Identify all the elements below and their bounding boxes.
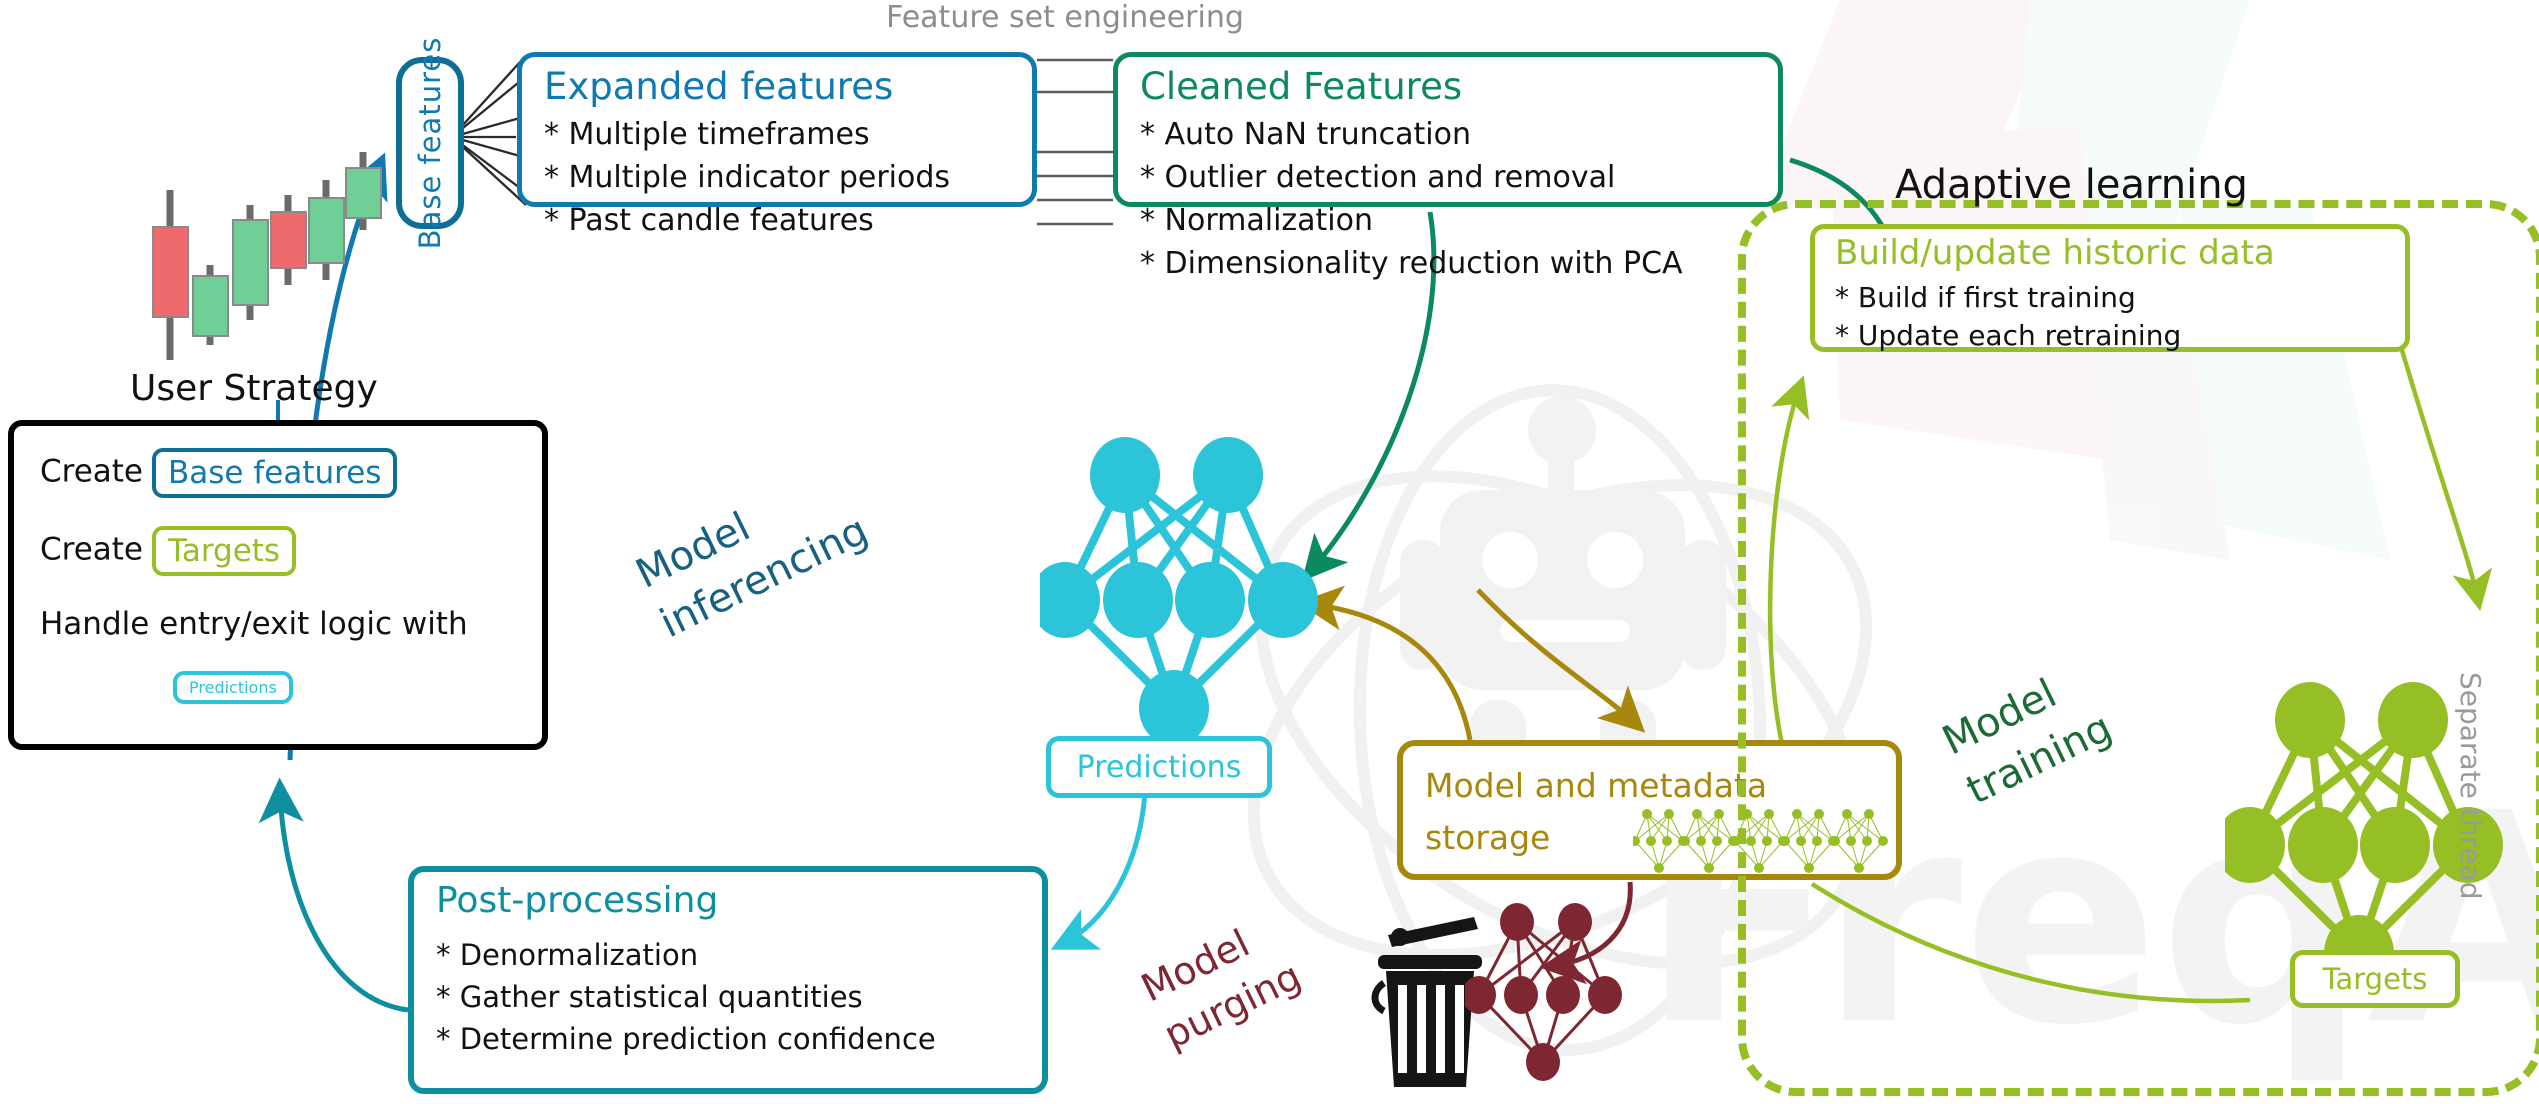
predictions-inline-wrap: Predictions (164, 671, 293, 704)
entry-exit-logic-label: Handle entry/exit logic with (40, 606, 468, 642)
expanded-features-box[interactable]: Expanded features * Multiple timeframes … (517, 52, 1037, 207)
list-item: * Update each retraining (1835, 317, 2181, 355)
base-features-inline-pill[interactable]: Base features (152, 448, 397, 498)
list-item: * Normalization (1140, 199, 1683, 242)
candlestick-chart (140, 80, 390, 380)
list-item: * Multiple indicator periods (544, 156, 950, 199)
list-item: * Outlier detection and removal (1140, 156, 1683, 199)
list-item: * Auto NaN truncation (1140, 113, 1683, 156)
build-update-historic-data-box[interactable]: Build/update historic data * Build if fi… (1810, 224, 2410, 352)
targets-inline-pill[interactable]: Targets (152, 526, 296, 576)
inference-neural-network-icon (1040, 420, 1340, 740)
post-processing-box[interactable]: Post-processing * Denormalization * Gath… (408, 866, 1048, 1094)
targets-pill-right[interactable]: Targets (2290, 950, 2460, 1008)
expanded-features-bullets: * Multiple timeframes * Multiple indicat… (544, 113, 950, 242)
base-features-pill[interactable]: Base features (396, 57, 464, 229)
historic-data-title: Build/update historic data (1835, 233, 2275, 273)
separate-thread-label: Separate thread (2454, 672, 2487, 900)
predictions-inline-pill[interactable]: Predictions (173, 671, 293, 704)
post-processing-title: Post-processing (436, 880, 718, 921)
purged-model-network-icon (1465, 900, 1640, 1090)
storage-title-line1: Model and metadata (1425, 760, 1767, 812)
user-strategy-row-2: CreateTargets (40, 526, 296, 576)
adaptive-learning-title: Adaptive learning (1895, 162, 2248, 208)
create-label-2: Create (40, 532, 143, 568)
user-strategy-box[interactable]: CreateBase features CreateTargets Handle… (8, 420, 548, 750)
list-item: * Determine prediction confidence (436, 1018, 936, 1060)
create-label-1: Create (40, 454, 143, 490)
freqai-architecture-diagram: FreqAI (0, 0, 2539, 1104)
list-item: * Dimensionality reduction with PCA (1140, 242, 1683, 285)
list-item: * Gather statistical quantities (436, 976, 936, 1018)
cleaned-features-bullets: * Auto NaN truncation * Outlier detectio… (1140, 113, 1683, 285)
predictions-pill-center[interactable]: Predictions (1046, 736, 1272, 798)
cleaned-features-box[interactable]: Cleaned Features * Auto NaN truncation *… (1113, 52, 1783, 207)
user-strategy-row-3: Handle entry/exit logic with (40, 606, 468, 642)
historic-data-bullets: * Build if first training * Update each … (1835, 279, 2181, 355)
list-item: * Multiple timeframes (544, 113, 950, 156)
list-item: * Denormalization (436, 934, 936, 976)
feature-set-engineering-label: Feature set engineering (855, 0, 1275, 35)
expanded-features-title: Expanded features (544, 65, 893, 108)
post-processing-bullets: * Denormalization * Gather statistical q… (436, 934, 936, 1060)
base-features-label: Base features (413, 37, 447, 250)
user-strategy-title: User Strategy (130, 368, 378, 409)
cleaned-features-title: Cleaned Features (1140, 65, 1462, 108)
list-item: * Build if first training (1835, 279, 2181, 317)
user-strategy-row-1: CreateBase features (40, 448, 397, 498)
list-item: * Past candle features (544, 199, 950, 242)
